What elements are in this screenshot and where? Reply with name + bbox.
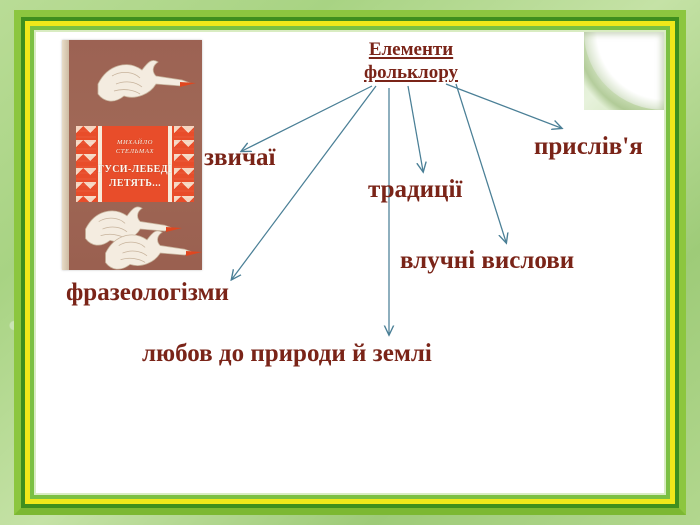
book-cover-image: МИХАЙЛО СТЕЛЬМАХ ГУСИ-ЛЕБЕДІ ЛЕТЯТЬ... [62,40,202,270]
book-author-line1: МИХАЙЛО [116,138,154,147]
book-author: МИХАЙЛО СТЕЛЬМАХ [116,138,154,157]
branch-label-frazeo: фразеологізми [66,280,229,305]
book-title-line1: ГУСИ-ЛЕБЕДІ [98,163,173,177]
book-label: МИХАЙЛО СТЕЛЬМАХ ГУСИ-ЛЕБЕДІ ЛЕТЯТЬ... [76,126,194,202]
diagram-title-line2: фольклору [364,62,458,83]
branch-label-pryslivya: прислів'я [534,134,643,159]
book-author-line2: СТЕЛЬМАХ [116,147,154,156]
book-title-line2: ЛЕТЯТЬ... [98,177,173,191]
ornament-left [76,126,96,202]
branch-label-vluchni: влучні вислови [400,248,574,273]
book-spine [62,40,69,270]
branch-label-lyubov: любов до природи й землі [142,341,432,366]
arrow-to-vluchni [456,84,506,242]
slide-canvas: МИХАЙЛО СТЕЛЬМАХ ГУСИ-ЛЕБЕДІ ЛЕТЯТЬ... [36,32,664,493]
goose-top-icon [90,54,194,116]
arrow-to-tradytsii [408,86,423,171]
book-title: ГУСИ-ЛЕБЕДІ ЛЕТЯТЬ... [98,163,173,190]
goose-beak-top-icon [180,78,198,90]
ornament-right [174,126,194,202]
diagram-title-line1: Елементи [369,39,453,60]
diagram-title: Елементи фольклору [336,38,486,84]
branch-label-tradytsii: традиції [368,177,462,202]
goose-beak-bottom-right-icon [186,247,204,259]
arrow-to-frazeo [232,86,376,279]
slide-background: МИХАЙЛО СТЕЛЬМАХ ГУСИ-ЛЕБЕДІ ЛЕТЯТЬ... [0,0,700,525]
goose-bottom-right-icon [98,224,196,284]
branch-label-zvychai: звичаї [204,145,276,170]
arrow-to-pryslivya [446,84,561,128]
arrow-to-zvychai [242,86,372,151]
